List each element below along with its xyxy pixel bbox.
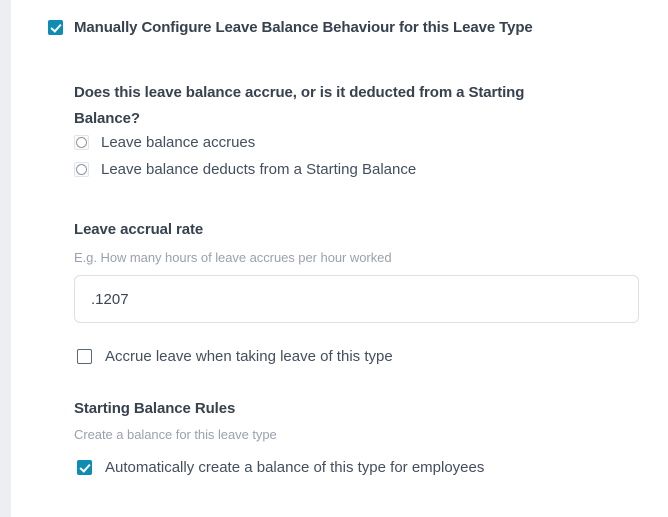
radio-option-accrues-label: Leave balance accrues — [101, 132, 255, 153]
accrual-question-heading: Does this leave balance accrue, or is it… — [74, 80, 574, 132]
manually-configure-checkbox-row[interactable]: Manually Configure Leave Balance Behavio… — [48, 18, 533, 38]
accrual-rate-help-text: E.g. How many hours of leave accrues per… — [74, 250, 392, 265]
starting-balance-rules-title: Starting Balance Rules — [74, 400, 235, 417]
accrual-rate-label: Leave accrual rate — [74, 221, 203, 238]
accrue-when-taking-label: Accrue leave when taking leave of this t… — [105, 347, 393, 366]
starting-balance-rules-subtitle: Create a balance for this leave type — [74, 427, 277, 442]
manually-configure-label: Manually Configure Leave Balance Behavio… — [74, 18, 533, 38]
radio-option-accrues[interactable]: Leave balance accrues — [74, 132, 416, 159]
left-rail — [0, 0, 11, 517]
radio-option-deducts[interactable]: Leave balance deducts from a Starting Ba… — [74, 159, 416, 186]
accrual-rate-input[interactable] — [74, 275, 639, 323]
auto-create-balance-checkbox-row[interactable]: Automatically create a balance of this t… — [77, 458, 484, 477]
leave-balance-settings-page: Manually Configure Leave Balance Behavio… — [0, 0, 668, 517]
checkbox-checked-icon[interactable] — [48, 20, 63, 35]
auto-create-balance-label: Automatically create a balance of this t… — [105, 458, 484, 477]
accrual-question-options: Leave balance accrues Leave balance dedu… — [74, 132, 416, 186]
accrue-when-taking-checkbox-row[interactable]: Accrue leave when taking leave of this t… — [77, 347, 393, 366]
checkbox-checked-icon[interactable] — [77, 460, 92, 475]
checkbox-unchecked-icon[interactable] — [77, 349, 92, 364]
radio-unselected-icon[interactable] — [74, 135, 89, 150]
radio-option-deducts-label: Leave balance deducts from a Starting Ba… — [101, 159, 416, 180]
settings-content: Manually Configure Leave Balance Behavio… — [11, 0, 668, 517]
radio-unselected-icon[interactable] — [74, 162, 89, 177]
